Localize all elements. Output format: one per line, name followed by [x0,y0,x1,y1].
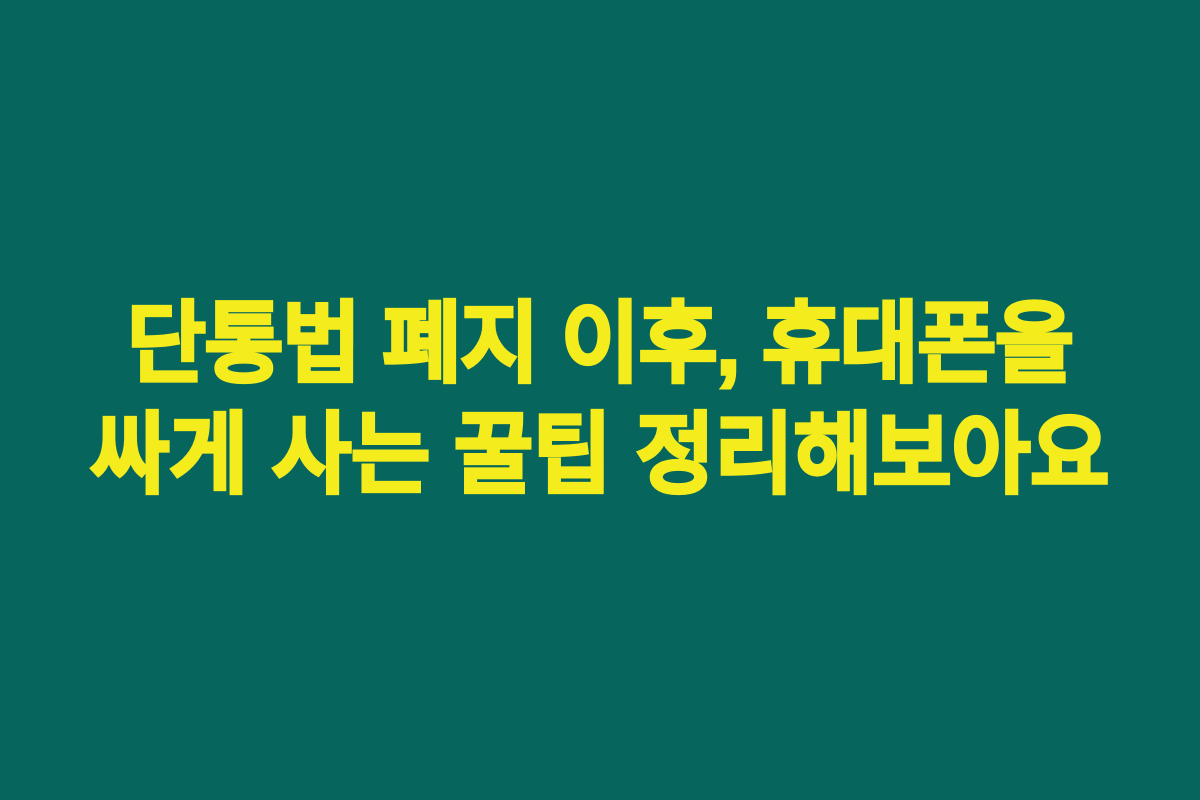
headline: 단통법 폐지 이후, 휴대폰을 싸게 사는 꿀팁 정리해보아요 [18,289,1182,511]
headline-line-1: 단통법 폐지 이후, 휴대폰을 [18,289,1182,400]
headline-line-2: 싸게 사는 꿀팁 정리해보아요 [18,400,1182,511]
banner-card: 단통법 폐지 이후, 휴대폰을 싸게 사는 꿀팁 정리해보아요 [0,0,1200,800]
